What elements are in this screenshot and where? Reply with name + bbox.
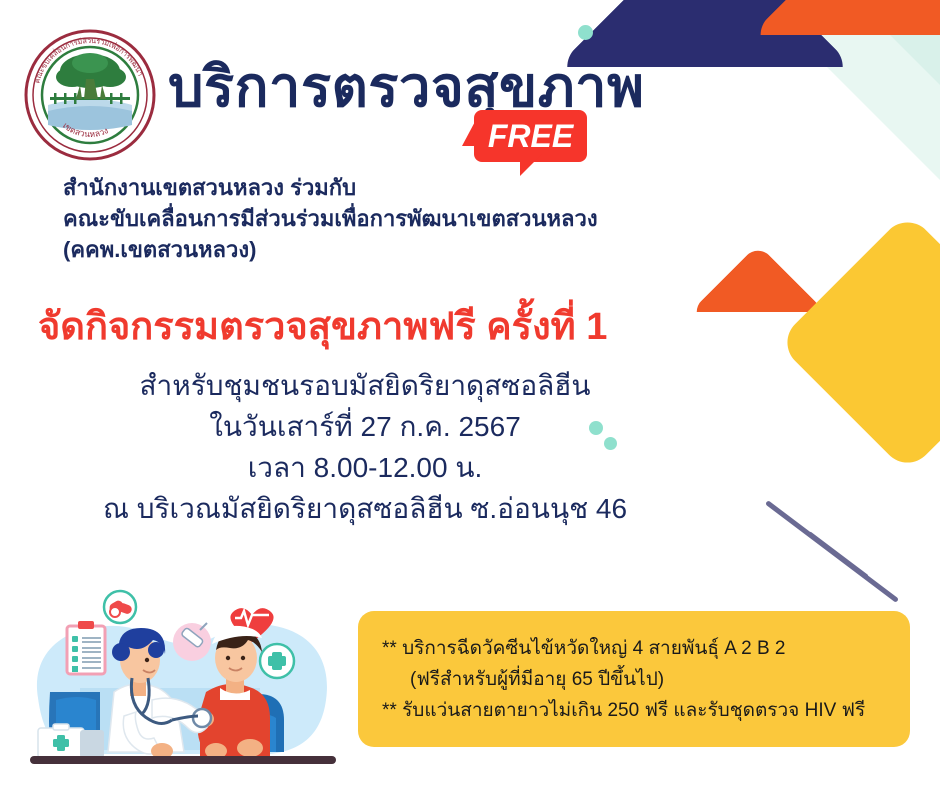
note-line-1: ** บริการฉีดวัคซีนไข้หวัดใหญ่ 4 สายพันธุ… xyxy=(382,633,886,664)
event-details-block: สำหรับชุมชนรอบมัสยิดริยาดุสซอลิฮีน ในวัน… xyxy=(0,365,730,529)
medical-cross-icon xyxy=(260,644,294,678)
note-line-2: (ฟรีสำหรับผู้ที่มีอายุ 65 ปีขึ้นไป) xyxy=(382,664,886,695)
decor-diagonal-line xyxy=(765,500,899,603)
detail-line-location: ณ บริเวณมัสยิดริยาดุสซอลิฮีน ซ.อ่อนนุช 4… xyxy=(0,488,730,529)
detail-line-date: ในวันเสาร์ที่ 27 ก.ค. 2567 xyxy=(0,406,730,447)
district-seal-logo: คณะขับเคลื่อนการมีส่วนร่วมเพื่อการพัฒนา … xyxy=(22,27,158,163)
organization-line-3: (คคพ.เขตสวนหลวง) xyxy=(63,234,598,265)
yellow-diamond-shape xyxy=(777,212,940,474)
orange-arrow-shape-middle xyxy=(690,244,826,380)
stethoscope-chestpiece xyxy=(193,709,211,727)
note-box: ** บริการฉีดวัคซีนไข้หวัดใหญ่ 4 สายพันธุ… xyxy=(358,611,910,747)
pills-icon xyxy=(104,591,136,623)
free-badge: FREE xyxy=(462,110,587,172)
event-headline: จัดกิจกรรมตรวจสุขภาพฟรี ครั้งที่ 1 xyxy=(38,295,607,356)
organization-line-1: สำนักงานเขตสวนหลวง ร่วมกับ xyxy=(63,172,598,203)
doctor-patient-illustration xyxy=(20,588,350,788)
detail-line-time: เวลา 8.00-12.00 น. xyxy=(0,447,730,488)
clipboard-checklist-icon xyxy=(67,621,105,674)
organization-block: สำนักงานเขตสวนหลวง ร่วมกับ คณะขับเคลื่อน… xyxy=(63,172,598,265)
syringe-icon xyxy=(173,623,211,661)
teal-dot-icon xyxy=(578,25,593,40)
note-line-3: ** รับแว่นสายตายาวไม่เกิน 250 ฟรี และรับ… xyxy=(382,695,886,726)
decor-band-dark-teal xyxy=(855,0,940,554)
orange-arrow-shape-top xyxy=(751,0,940,169)
decor-diagonal-line xyxy=(808,531,868,577)
desk-surface xyxy=(30,756,336,764)
organization-line-2: คณะขับเคลื่อนการมีส่วนร่วมเพื่อการพัฒนาเ… xyxy=(63,203,598,234)
poster-canvas: คณะขับเคลื่อนการมีส่วนร่วมเพื่อการพัฒนา … xyxy=(0,0,940,788)
detail-line-audience: สำหรับชุมชนรอบมัสยิดริยาดุสซอลิฮีน xyxy=(0,365,730,406)
free-badge-label: FREE xyxy=(474,110,587,162)
